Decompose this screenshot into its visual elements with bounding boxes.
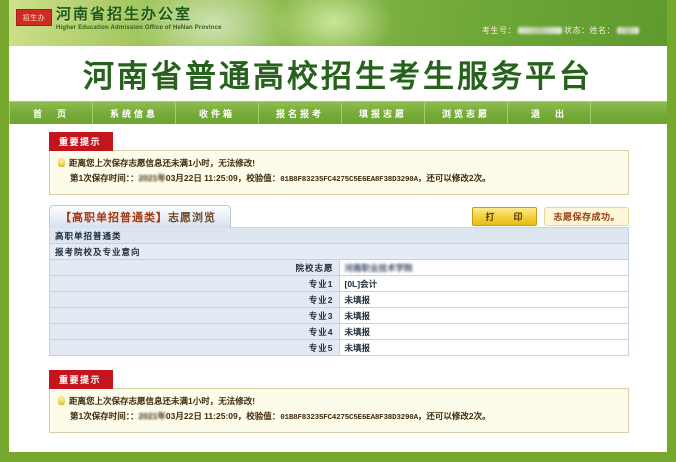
print-button[interactable]: 打 印 — [472, 207, 537, 226]
row-value-major-3: 未填报 — [339, 308, 629, 324]
table-row: 专业1 [0L]会计 — [50, 276, 629, 292]
alert-top-tab: 重要提示 — [49, 132, 113, 151]
save-success-message: 志愿保存成功。 — [544, 207, 629, 226]
alert-bottom-save-prefix: 第1次保存时间：： — [70, 411, 138, 421]
page-title: 河南省普通高校招生考生服务平台 — [83, 51, 593, 96]
site-header: 招生办 河南省招生办公室 Higher Education Admission … — [9, 0, 667, 46]
bulb-icon — [58, 158, 65, 167]
panel-header-actions: 打 印 志愿保存成功。 — [472, 207, 629, 226]
table-row: 专业5 未填报 — [50, 340, 629, 356]
alert-top-save-prefix: 第1次保存时间：： — [70, 173, 138, 183]
alert-bottom: 重要提示 距离您上次保存志愿信息还未满1小时，无法修改! 第1次保存时间：：20… — [49, 370, 629, 433]
alert-top-suffix: ，还可以修改2次。 — [418, 173, 491, 183]
logo-title-en: Higher Education Admission Office of HeN… — [56, 24, 222, 32]
name-redacted — [617, 27, 639, 34]
group-header-cell: 高职单招普通类 — [50, 228, 629, 244]
alert-top-year-blurred: 2021年 — [138, 171, 165, 186]
panel-header: 【高职单招普通类】志愿浏览 打 印 志愿保存成功。 — [49, 205, 629, 227]
panel-title: 【高职单招普通类】志愿浏览 — [60, 209, 216, 225]
nav-item-fill-volunteer[interactable]: 填报志愿 — [342, 102, 425, 124]
panel-title-box: 【高职单招普通类】志愿浏览 — [49, 205, 231, 228]
status-label: 状态： — [564, 26, 590, 35]
row-label-major-2: 专业2 — [50, 292, 340, 308]
table-row: 专业4 未填报 — [50, 324, 629, 340]
name-label: 姓名： — [590, 26, 616, 35]
alert-top: 重要提示 距离您上次保存志愿信息还未满1小时，无法修改! 第1次保存时间：：20… — [49, 132, 629, 195]
bulb-icon — [58, 396, 65, 405]
alert-top-line-1: 距离您上次保存志愿信息还未满1小时，无法修改! — [58, 156, 620, 171]
panel-title-sub: 志愿浏览 — [168, 212, 216, 224]
alert-bottom-text-1: 距离您上次保存志愿信息还未满1小时，无法修改! — [69, 396, 255, 406]
nav-item-registration[interactable]: 报名报考 — [259, 102, 342, 124]
user-info-bar: 考生号：状态：姓名： — [482, 25, 641, 36]
row-value-major-1: [0L]会计 — [339, 276, 629, 292]
table-row-group-header: 高职单招普通类 — [50, 228, 629, 244]
nav-spacer — [591, 102, 667, 124]
row-value-major-2: 未填报 — [339, 292, 629, 308]
row-label-major-1: 专业1 — [50, 276, 340, 292]
logo-title-cn: 河南省招生办公室 — [56, 7, 222, 23]
alert-top-text-1: 距离您上次保存志愿信息还未满1小时，无法修改! — [69, 158, 255, 168]
page-root: 招生办 河南省招生办公室 Higher Education Admission … — [0, 0, 676, 462]
row-value-school: 河南职业技术学院 — [339, 260, 629, 276]
logo-mark-icon: 招生办 — [16, 9, 52, 26]
row-label-major-4: 专业4 — [50, 324, 340, 340]
nav-item-logout[interactable]: 退 出 — [508, 102, 591, 124]
table-row: 院校志愿 河南职业技术学院 — [50, 260, 629, 276]
nav-item-home[interactable]: 首 页 — [9, 102, 93, 124]
table-row-subgroup-header: 报考院校及专业意向 — [50, 244, 629, 260]
alert-bottom-line-2: 第1次保存时间：：2021年03月22日 11:25:09，校验值：01B8F8… — [58, 409, 620, 426]
row-label-major-5: 专业5 — [50, 340, 340, 356]
alert-bottom-tab: 重要提示 — [49, 370, 113, 389]
candidate-number-redacted — [518, 27, 562, 34]
content-gap — [49, 356, 629, 370]
alert-bottom-suffix: ，还可以修改2次。 — [418, 411, 491, 421]
table-row: 专业2 未填报 — [50, 292, 629, 308]
alert-bottom-date: 03月22日 11:25:09 — [166, 411, 238, 421]
panel-title-bracket: 【高职单招普通类】 — [60, 212, 168, 224]
row-value-major-5: 未填报 — [339, 340, 629, 356]
alert-bottom-checksum: 01B8F83235FC4275C5E6EA8F38D3290A — [280, 414, 418, 422]
alert-bottom-year-blurred: 2021年 — [138, 409, 165, 424]
nav-item-inbox[interactable]: 收件箱 — [176, 102, 259, 124]
main-nav: 首 页 系统信息 收件箱 报名报考 填报志愿 浏览志愿 退 出 — [9, 101, 667, 124]
alert-top-line-2: 第1次保存时间：：2021年03月22日 11:25:09，校验值：01B8F8… — [58, 171, 620, 188]
volunteer-table: 高职单招普通类 报考院校及专业意向 院校志愿 河南职业技术学院 专业1 [0L]… — [49, 227, 629, 356]
alert-bottom-line-1: 距离您上次保存志愿信息还未满1小时，无法修改! — [58, 394, 620, 409]
alert-top-date: 03月22日 11:25:09 — [166, 173, 238, 183]
alert-bottom-body: 距离您上次保存志愿信息还未满1小时，无法修改! 第1次保存时间：：2021年03… — [49, 388, 629, 433]
table-row: 专业3 未填报 — [50, 308, 629, 324]
main-content: 重要提示 距离您上次保存志愿信息还未满1小时，无法修改! 第1次保存时间：：20… — [9, 124, 667, 433]
volunteer-panel: 【高职单招普通类】志愿浏览 打 印 志愿保存成功。 高职单招普通类 报考院校及专… — [49, 205, 629, 356]
alert-bottom-checksum-label: ，校验值： — [238, 411, 281, 421]
subgroup-header-cell: 报考院校及专业意向 — [50, 244, 629, 260]
alert-top-checksum-label: ，校验值： — [238, 173, 281, 183]
banner-title-band: 河南省普通高校招生考生服务平台 — [9, 46, 667, 101]
alert-top-body: 距离您上次保存志愿信息还未满1小时，无法修改! 第1次保存时间：：2021年03… — [49, 150, 629, 195]
row-value-major-4: 未填报 — [339, 324, 629, 340]
row-label-school: 院校志愿 — [50, 260, 340, 276]
site-logo[interactable]: 招生办 河南省招生办公室 Higher Education Admission … — [16, 7, 222, 32]
row-label-major-3: 专业3 — [50, 308, 340, 324]
nav-item-browse-volunteer[interactable]: 浏览志愿 — [425, 102, 508, 124]
nav-item-system-info[interactable]: 系统信息 — [93, 102, 176, 124]
alert-top-checksum: 01B8F83235FC4275C5E6EA8F38D3290A — [280, 176, 418, 184]
candidate-number-label: 考生号： — [482, 26, 516, 35]
